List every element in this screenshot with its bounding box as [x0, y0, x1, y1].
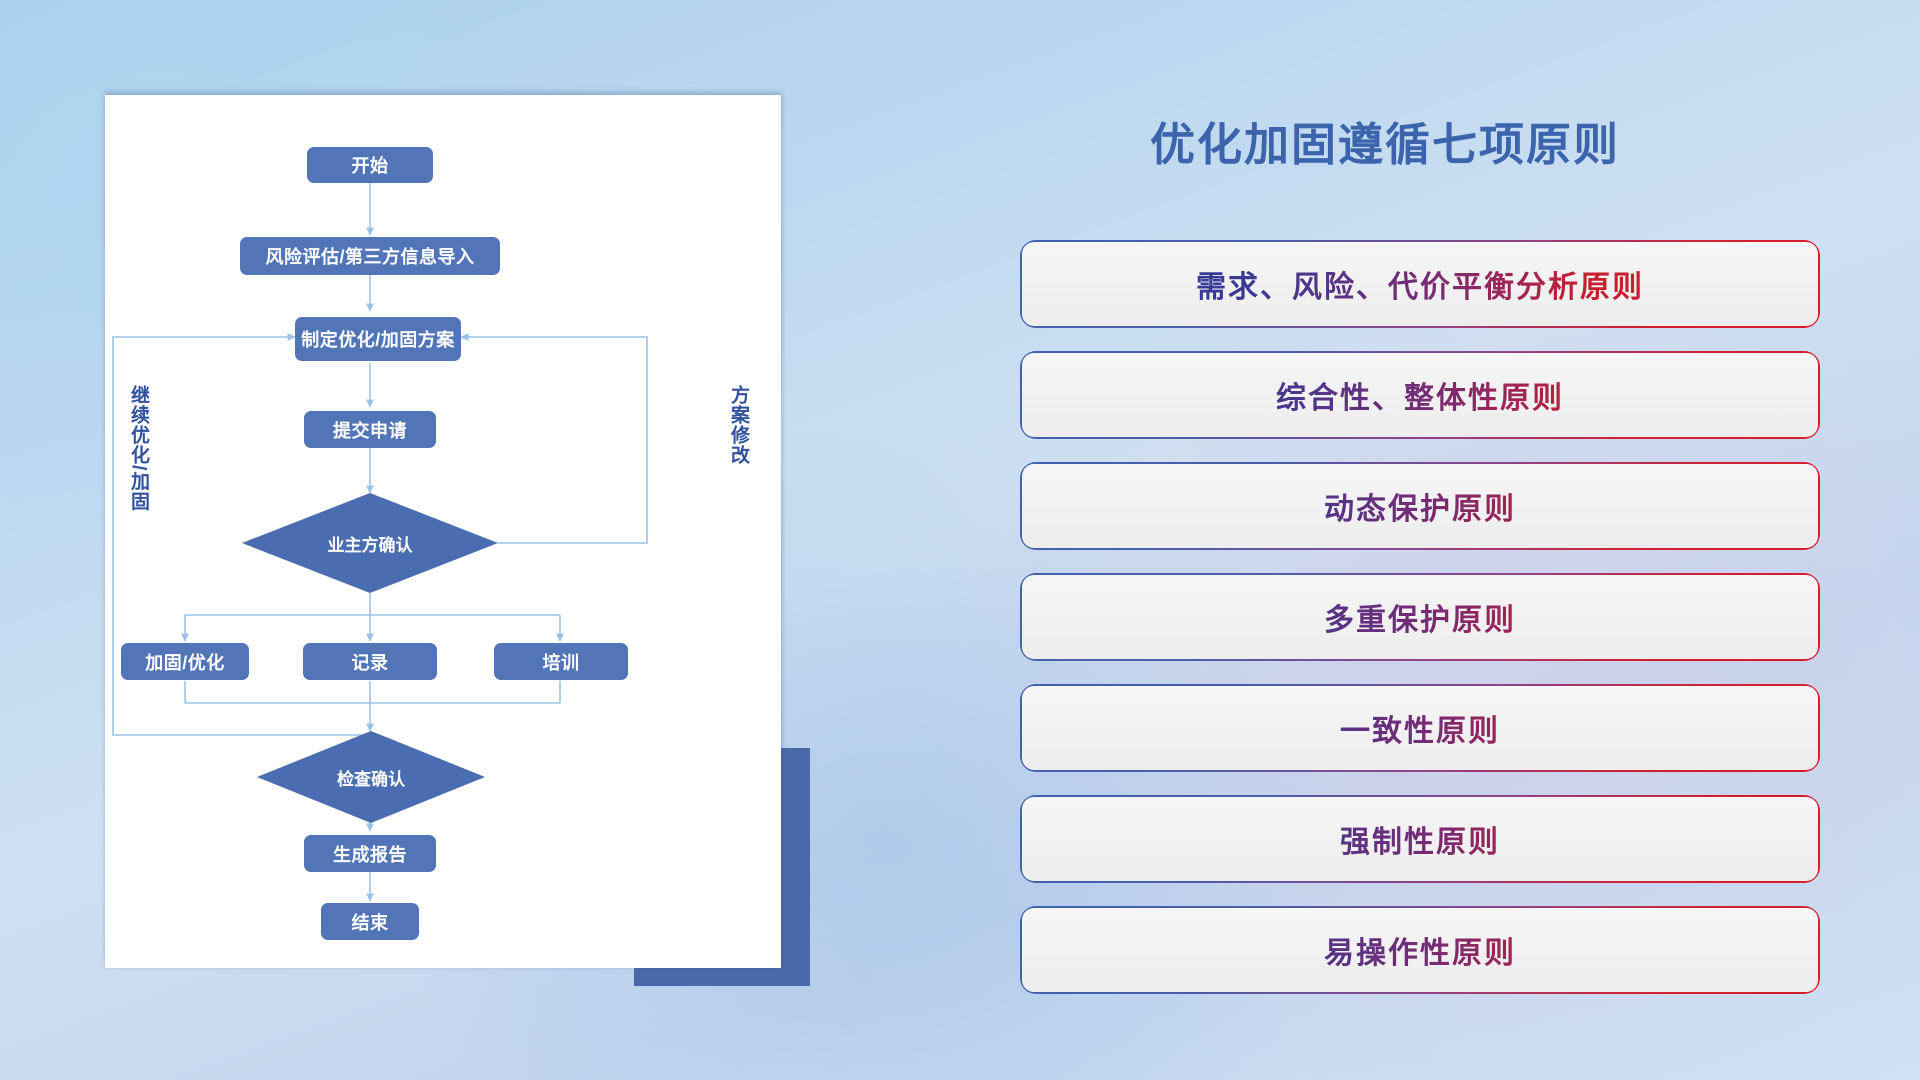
flow-node-record[interactable]: 记录: [303, 643, 437, 680]
flow-node-end[interactable]: 结束: [321, 903, 419, 940]
flow-edge-label-plan-revise: 方案修改: [725, 385, 752, 465]
flow-node-check-confirm-label: 检查确认: [337, 765, 405, 790]
principle-card-3-label: 动态保护原则: [1022, 464, 1818, 548]
flow-node-gen-report-label: 生成报告: [333, 841, 407, 867]
principle-card-7-label: 易操作性原则: [1022, 908, 1818, 992]
principle-card-6-label: 强制性原则: [1022, 797, 1818, 881]
principle-card-2-label: 综合性、整体性原则: [1022, 353, 1818, 437]
flow-node-submit-label: 提交申请: [333, 417, 407, 443]
flow-node-submit[interactable]: 提交申请: [304, 411, 436, 448]
flow-node-reinforce[interactable]: 加固/优化: [121, 643, 249, 680]
flow-node-gen-report[interactable]: 生成报告: [304, 835, 436, 872]
principle-card-4[interactable]: 多重保护原则: [1020, 573, 1820, 661]
principles-pane: 优化加固遵循七项原则 需求、风险、代价平衡分析原则 综合性、整体性原则 动态保护…: [1020, 0, 1920, 1080]
flow-node-make-plan[interactable]: 制定优化/加固方案: [295, 317, 461, 361]
flow-node-risk-assess-label: 风险评估/第三方信息导入: [266, 243, 475, 269]
flow-node-training-label: 培训: [543, 649, 580, 675]
flow-edge-label-continue-loop: 继续优化/加固: [125, 385, 152, 511]
principle-card-7[interactable]: 易操作性原则: [1020, 906, 1820, 994]
principle-card-3[interactable]: 动态保护原则: [1020, 462, 1820, 550]
principle-card-2[interactable]: 综合性、整体性原则: [1020, 351, 1820, 439]
flow-node-start[interactable]: 开始: [307, 147, 433, 183]
flow-node-make-plan-label: 制定优化/加固方案: [301, 326, 455, 352]
flow-node-owner-confirm-label: 业主方确认: [328, 531, 413, 556]
flow-node-record-label: 记录: [352, 649, 389, 675]
principle-card-5-label: 一致性原则: [1022, 686, 1818, 770]
flowchart-panel: 开始 风险评估/第三方信息导入 制定优化/加固方案 提交申请 业主方确认 加固/…: [105, 95, 781, 968]
principle-card-5[interactable]: 一致性原则: [1020, 684, 1820, 772]
flow-node-end-label: 结束: [352, 909, 389, 935]
principle-card-1[interactable]: 需求、风险、代价平衡分析原则: [1020, 240, 1820, 328]
flow-node-start-label: 开始: [352, 152, 389, 178]
principle-card-1-label: 需求、风险、代价平衡分析原则: [1022, 242, 1818, 326]
principles-title: 优化加固遵循七项原则: [1150, 108, 1620, 173]
flow-node-risk-assess[interactable]: 风险评估/第三方信息导入: [240, 237, 500, 275]
flow-node-reinforce-label: 加固/优化: [145, 649, 225, 675]
principle-card-4-label: 多重保护原则: [1022, 575, 1818, 659]
flow-node-training[interactable]: 培训: [494, 643, 628, 680]
principle-card-6[interactable]: 强制性原则: [1020, 795, 1820, 883]
